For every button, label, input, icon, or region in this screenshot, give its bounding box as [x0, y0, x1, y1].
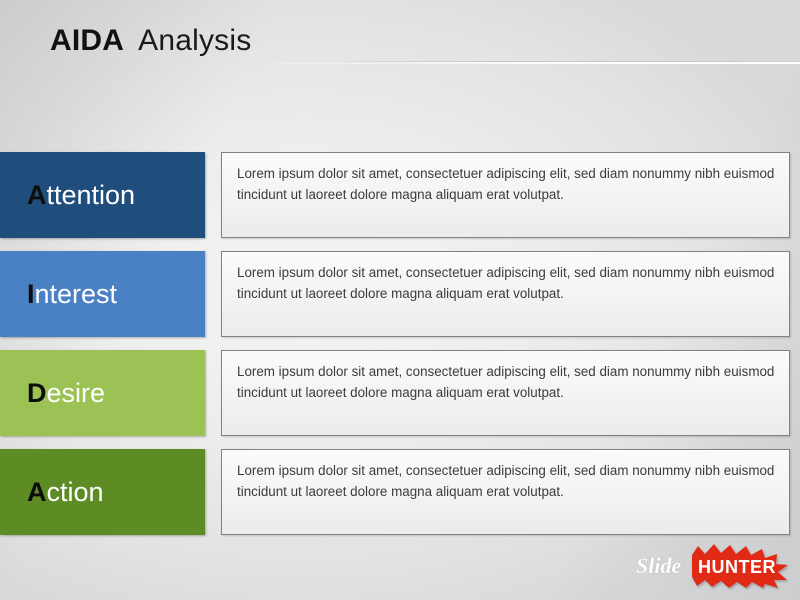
label-rest: ction — [47, 477, 104, 507]
content-text: Lorem ipsum dolor sit amet, consectetuer… — [237, 460, 775, 502]
page-title: AIDA Analysis — [50, 24, 251, 58]
label-bar-text: Attention — [27, 182, 135, 209]
aida-row: Action Lorem ipsum dolor sit amet, conse… — [0, 449, 800, 535]
label-rest: nterest — [35, 279, 118, 309]
label-initial: D — [27, 378, 47, 408]
page-title-light: Analysis — [138, 24, 251, 58]
page-title-strong: AIDA — [50, 24, 124, 58]
slide-canvas: AIDA Analysis Attention Lorem ipsum dolo… — [0, 0, 800, 600]
content-box-action[interactable]: Lorem ipsum dolor sit amet, consectetuer… — [221, 449, 790, 535]
aida-row: Desire Lorem ipsum dolor sit amet, conse… — [0, 350, 800, 436]
label-rest: esire — [47, 378, 106, 408]
label-bar-interest[interactable]: Interest — [0, 251, 205, 337]
label-bar-desire[interactable]: Desire — [0, 350, 205, 436]
content-text: Lorem ipsum dolor sit amet, consectetuer… — [237, 163, 775, 205]
label-initial: I — [27, 279, 35, 309]
title-divider — [275, 62, 800, 64]
label-initial: A — [27, 477, 47, 507]
label-bar-text: Action — [27, 479, 104, 506]
label-bar-attention[interactable]: Attention — [0, 152, 205, 238]
slidehunter-logo[interactable]: Slide HUNTER — [632, 542, 792, 590]
label-rest: ttention — [47, 180, 136, 210]
aida-rows: Attention Lorem ipsum dolor sit amet, co… — [0, 152, 800, 535]
content-box-interest[interactable]: Lorem ipsum dolor sit amet, consectetuer… — [221, 251, 790, 337]
label-bar-text: Desire — [27, 380, 105, 407]
label-bar-action[interactable]: Action — [0, 449, 205, 535]
content-text: Lorem ipsum dolor sit amet, consectetuer… — [237, 262, 775, 304]
logo-word-slide: Slide — [636, 553, 681, 578]
logo-word-hunter: HUNTER — [698, 557, 776, 577]
aida-row: Attention Lorem ipsum dolor sit amet, co… — [0, 152, 800, 238]
content-box-attention[interactable]: Lorem ipsum dolor sit amet, consectetuer… — [221, 152, 790, 238]
aida-row: Interest Lorem ipsum dolor sit amet, con… — [0, 251, 800, 337]
label-initial: A — [27, 180, 47, 210]
content-text: Lorem ipsum dolor sit amet, consectetuer… — [237, 361, 775, 403]
content-box-desire[interactable]: Lorem ipsum dolor sit amet, consectetuer… — [221, 350, 790, 436]
label-bar-text: Interest — [27, 281, 117, 308]
